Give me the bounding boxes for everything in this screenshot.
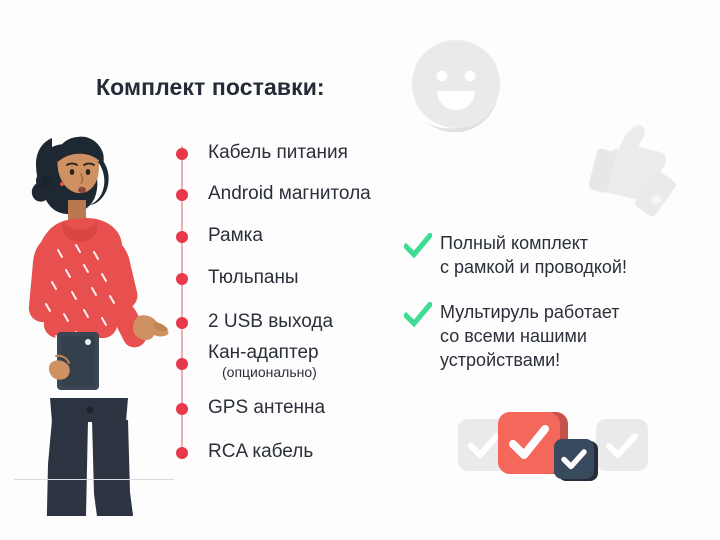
- feature-text: Полный комплект с рамкой и проводкой!: [440, 231, 627, 279]
- page-title: Комплект поставки:: [96, 74, 325, 101]
- checkbox-card-red: [498, 412, 560, 474]
- list-item-label: GPS антенна: [208, 395, 325, 421]
- list-item-label: Тюльпаны: [208, 265, 299, 291]
- bullet-dot-icon: [176, 189, 188, 201]
- list-item: Кан-адаптер (опционально): [176, 352, 406, 376]
- list-item: 2 USB выхода: [176, 311, 406, 335]
- smiley-face-icon: [408, 36, 504, 132]
- ground-line: [14, 479, 174, 480]
- woman-pointing-illustration: [6, 104, 176, 516]
- check-icon: [554, 439, 594, 479]
- list-item-label: Кабель питания: [208, 140, 348, 166]
- thumbs-up-icon: [578, 112, 682, 216]
- bullet-dot-icon: [176, 273, 188, 285]
- bullet-dot-icon: [176, 447, 188, 459]
- bullet-dot-icon: [176, 148, 188, 160]
- kit-contents-list: Кабель питания Android магнитола Рамка Т…: [176, 130, 406, 460]
- checkbox-cards-icon: [458, 406, 648, 486]
- avito-logo-icon: Avito: [612, 500, 708, 528]
- check-icon: [596, 419, 648, 471]
- list-item: Android магнитола: [176, 183, 406, 207]
- bullet-dot-icon: [176, 317, 188, 329]
- list-item-sublabel: (опционально): [222, 364, 317, 380]
- watermark-label: Avito: [644, 505, 693, 527]
- list-item: Рамка: [176, 225, 406, 249]
- promo-image-canvas: Комплект поставки: Кабель питания Androi…: [0, 0, 720, 540]
- bullet-dot-icon: [176, 358, 188, 370]
- list-item: RCA кабель: [176, 441, 406, 465]
- checkbox-card-navy: [554, 439, 594, 479]
- check-icon: [498, 412, 560, 474]
- check-icon: [404, 302, 432, 328]
- list-item-label: Android магнитола: [208, 181, 371, 207]
- list-item-label: 2 USB выхода: [208, 309, 333, 335]
- list-item: GPS антенна: [176, 397, 406, 421]
- list-item-label: Рамка: [208, 223, 263, 249]
- checkbox-card-gray-right: [596, 419, 648, 471]
- list-item: Тюльпаны: [176, 267, 406, 291]
- list-item-label: RCA кабель: [208, 439, 313, 465]
- list-item: Кабель питания: [176, 142, 406, 166]
- bullet-dot-icon: [176, 403, 188, 415]
- check-icon: [404, 233, 432, 259]
- list-item-label: Кан-адаптер: [208, 340, 319, 366]
- feature-text: Мультируль работает со всеми нашими устр…: [440, 300, 620, 372]
- bullet-dot-icon: [176, 231, 188, 243]
